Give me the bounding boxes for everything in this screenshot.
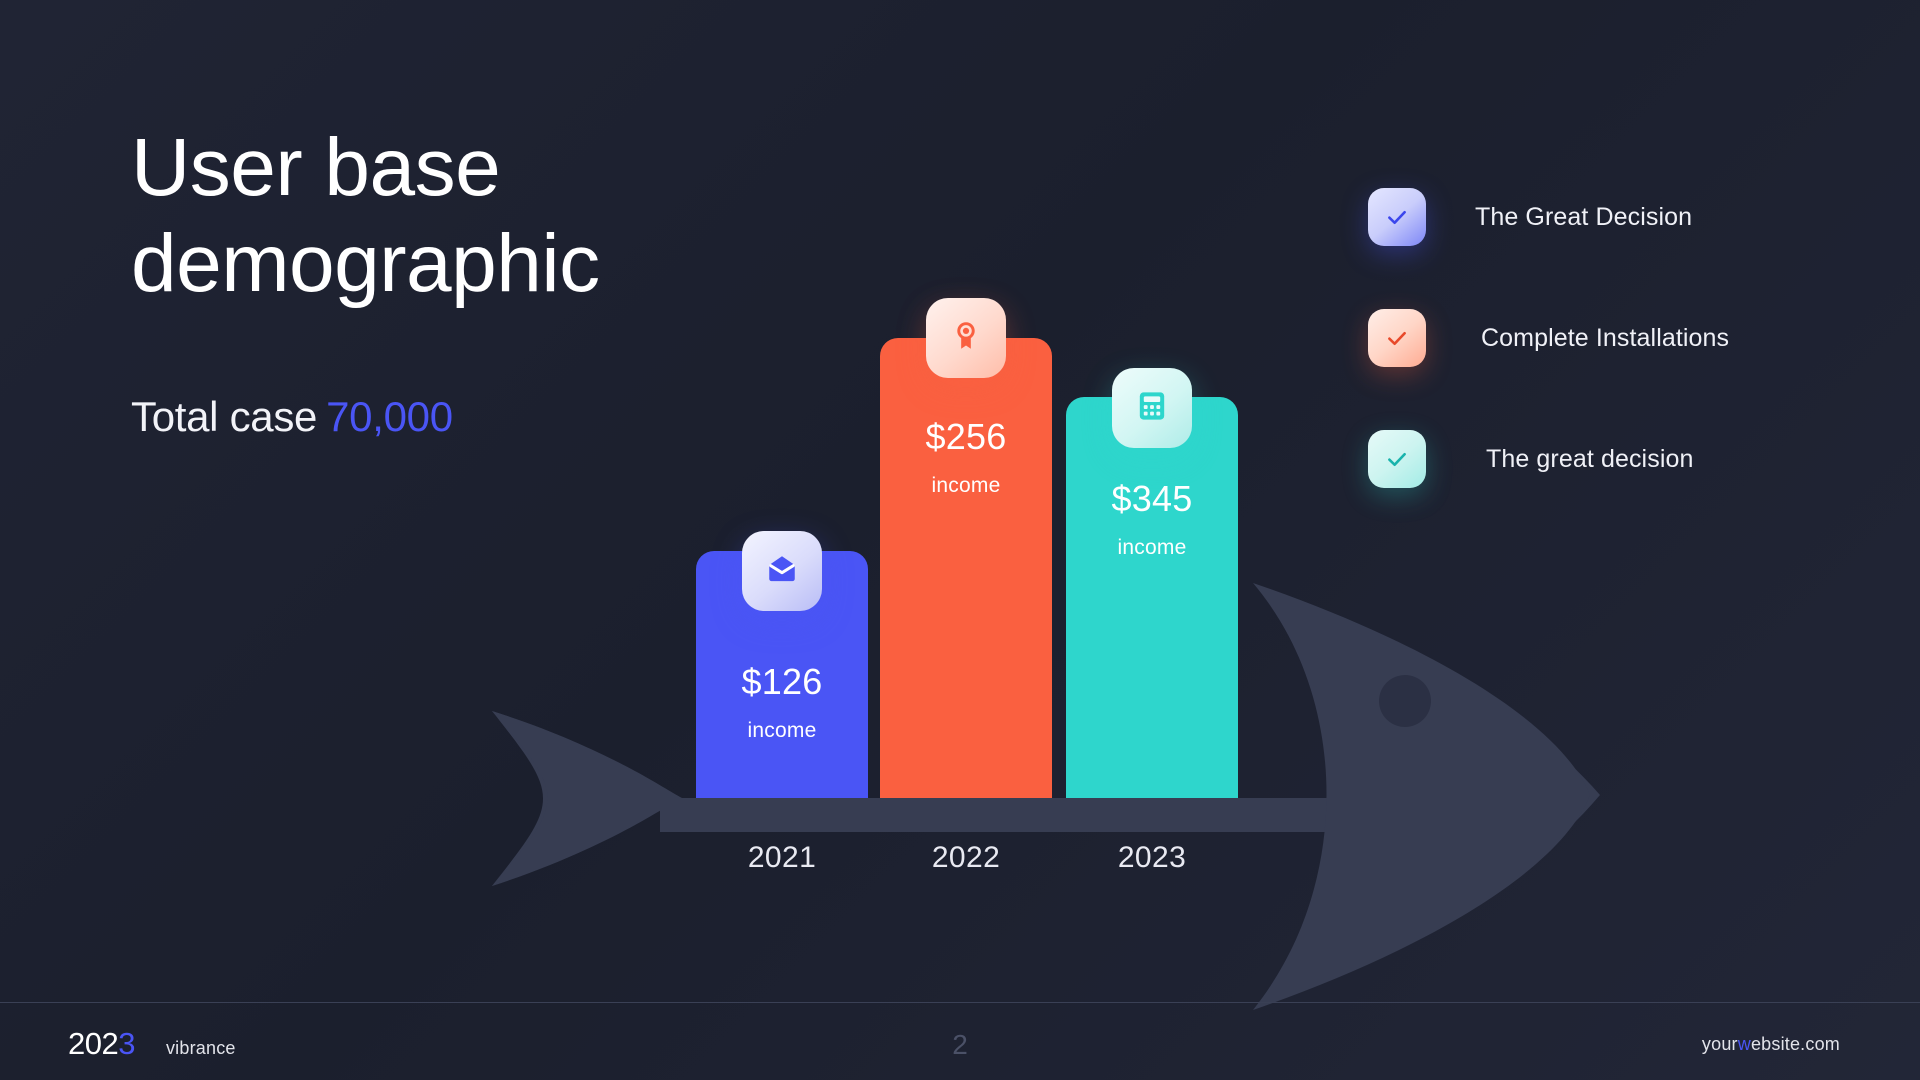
website-prefix: your [1702,1034,1738,1054]
bar-caption-2022: income [932,474,1001,498]
badge-2021[interactable] [742,531,822,611]
legend-item-the-great-decision-2[interactable]: The great decision [1368,430,1729,488]
envelope-icon [765,552,799,591]
check-icon [1384,325,1410,351]
bar-value-2021: $126 [742,661,823,703]
badge-2023[interactable] [1112,368,1192,448]
legend-checkbox-blue[interactable] [1368,188,1426,246]
page-number: 2 [0,1029,1920,1061]
legend-checkbox-orange[interactable] [1368,309,1426,367]
axis-label-2023: 2023 [1066,841,1238,875]
footer-divider [0,1002,1920,1003]
website-highlight: w [1738,1034,1751,1054]
bar-caption-2023: income [1118,536,1187,560]
axis-label-2022: 2022 [880,841,1052,875]
legend-item-the-great-decision[interactable]: The Great Decision [1368,188,1729,246]
badge-2022[interactable] [926,298,1006,378]
legend: The Great Decision Complete Installation… [1368,188,1729,551]
calculator-icon [1135,389,1169,428]
bar-value-2022: $256 [926,416,1007,458]
legend-item-complete-installations[interactable]: Complete Installations [1368,309,1729,367]
footer-website[interactable]: yourwebsite.com [1702,1034,1840,1055]
legend-label-2: The great decision [1486,445,1693,474]
check-icon [1384,204,1410,230]
award-ribbon-icon [949,319,983,358]
website-suffix: ebsite.com [1751,1034,1840,1054]
bar-2022[interactable]: $256 income [880,338,1052,798]
legend-label-1: Complete Installations [1481,324,1729,353]
axis-label-2021: 2021 [696,841,868,875]
check-icon [1384,446,1410,472]
bar-value-2023: $345 [1112,478,1193,520]
legend-label-0: The Great Decision [1475,203,1692,232]
bar-caption-2021: income [748,719,817,743]
legend-checkbox-teal[interactable] [1368,430,1426,488]
bar-2023[interactable]: $345 income [1066,397,1238,798]
